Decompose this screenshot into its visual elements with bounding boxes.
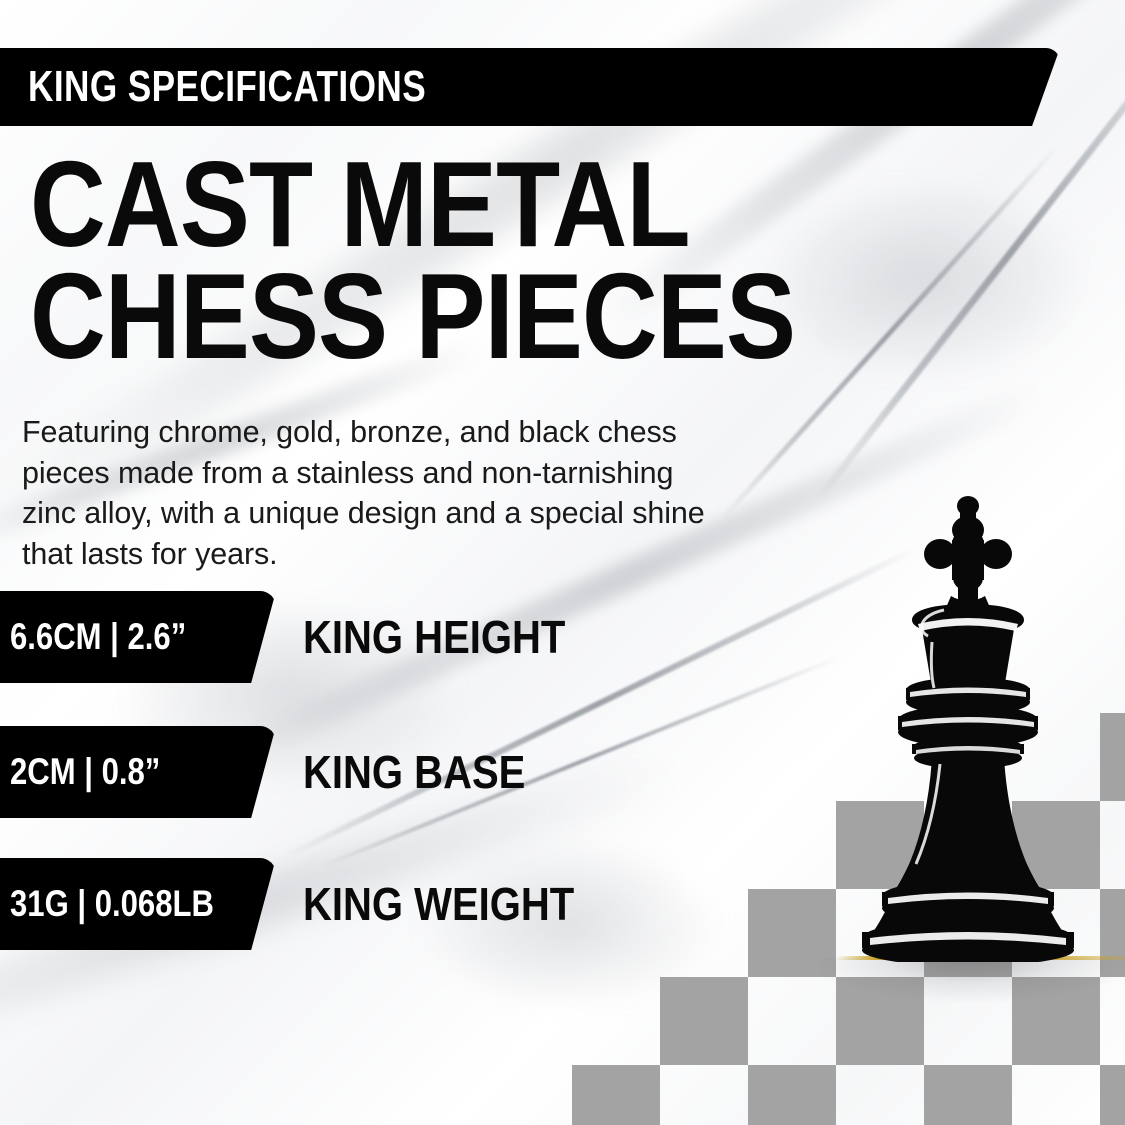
spec-row-king-height: 6.6CM | 2.6” KING HEIGHT <box>0 591 620 683</box>
product-description: Featuring chrome, gold, bronze, and blac… <box>22 412 722 574</box>
spec-row-king-base: 2CM | 0.8” KING BASE <box>0 726 620 818</box>
black-king-chess-piece <box>848 492 1088 962</box>
header-banner: KING SPECIFICATIONS <box>0 48 1060 126</box>
spec-value: 2CM | 0.8” <box>10 751 160 793</box>
spec-value-tag: 6.6CM | 2.6” <box>0 591 276 683</box>
spec-value: 6.6CM | 2.6” <box>10 616 186 658</box>
spec-value-tag: 31G | 0.068LB <box>0 858 276 950</box>
spec-value: 31G | 0.068LB <box>10 883 214 925</box>
spec-label: KING WEIGHT <box>303 877 574 931</box>
piece-shadow <box>820 958 1125 1004</box>
spec-label: KING BASE <box>303 745 525 799</box>
headline-line-1: CAST METAL <box>30 148 684 260</box>
spec-label: KING HEIGHT <box>303 610 565 664</box>
headline-line-2: CHESS PIECES <box>30 260 684 372</box>
banner-title: KING SPECIFICATIONS <box>28 62 426 112</box>
spec-value-tag: 2CM | 0.8” <box>0 726 276 818</box>
page-title: CAST METAL CHESS PIECES <box>30 148 790 372</box>
marble-blot <box>760 180 1090 380</box>
product-spec-infographic: KING SPECIFICATIONS CAST METAL CHESS PIE… <box>0 0 1125 1125</box>
spec-row-king-weight: 31G | 0.068LB KING WEIGHT <box>0 858 620 950</box>
